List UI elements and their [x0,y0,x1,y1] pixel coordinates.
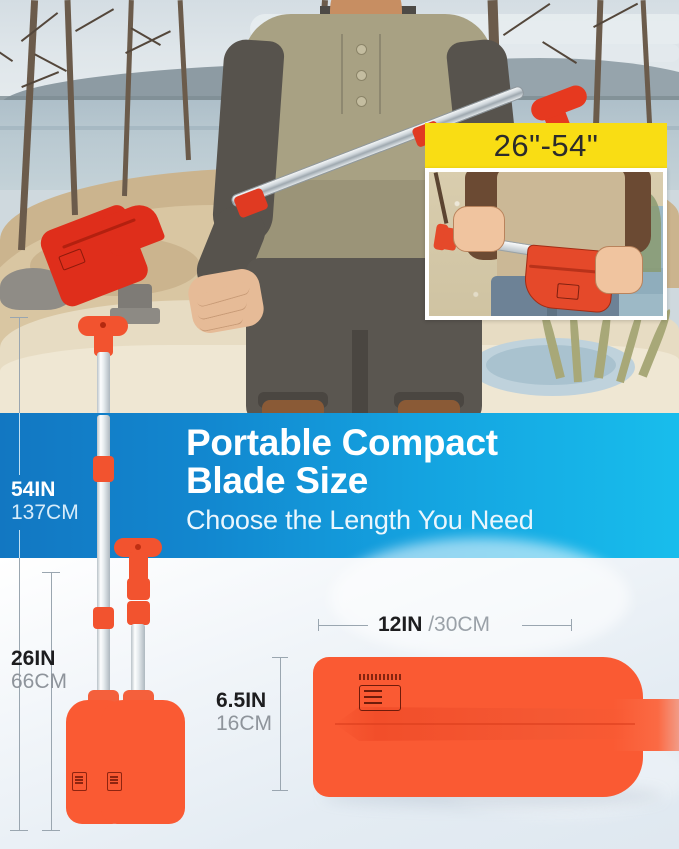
length-range-text: 26"-54" [494,128,599,164]
measure-tick-width-right [571,619,572,631]
shirt-button [356,44,367,55]
tall-paddle-collar [93,456,114,482]
infographic-root: 26"-54" Portable Compac [0,0,679,849]
inset-image [429,172,663,316]
measure-inches-height: 6.5IN [216,690,272,712]
tall-paddle-grip-dot [100,322,106,328]
brand-logo-icon [359,685,401,711]
measure-cm-26: 66CM [11,670,67,693]
headline-title: Portable Compact Blade Size [186,424,656,500]
measure-tick-width-left [318,619,319,631]
measure-inches-54: 54IN [11,479,79,501]
measure-line-54-banner [19,413,20,475]
tall-paddle-shaft-upper [97,352,110,415]
measure-label-blade-height: 6.5IN 16CM [216,690,272,735]
headline-subtitle: Choose the Length You Need [186,505,656,535]
tall-paddle-collar-mid [93,607,114,629]
short-paddle-shaft [131,624,145,700]
measure-tick-54-bottom [10,830,28,831]
placket-seam-left [341,34,343,114]
blade-center-line [335,723,635,725]
panel-sheen [330,538,630,658]
brand-logo-icon [107,772,122,791]
brand-logo-icon [72,772,87,791]
paddle-closeup-inset [425,168,667,320]
measure-tick-26-bottom [42,830,60,831]
inset-hand-right [595,246,643,294]
measure-inches-26: 26IN [11,648,67,670]
measure-line-width-right [522,625,572,626]
measure-line-54-upper [19,317,20,413]
brand-logo-wordmark [359,674,403,680]
short-paddle-collar-lower [127,601,150,625]
measure-cm-width: /30CM [428,613,490,636]
measure-cm-54: 137CM [11,501,79,524]
logo-bar [364,696,382,698]
logo-bar [364,690,382,692]
pants-inseam [352,330,368,415]
measure-label-blade-width: 12IN /30CM [378,613,490,637]
shirt-button [356,96,367,107]
length-range-badge: 26"-54" [425,123,667,168]
measure-tick-height-bottom [272,790,288,791]
short-paddle-collar-upper [127,578,150,600]
measure-inches-width: 12IN [378,613,422,636]
blade-closeup [313,657,679,797]
inset-hand-left [453,206,505,252]
headline-line-1: Portable Compact [186,422,498,463]
brand-logo-icon [556,283,579,300]
measure-line-width-left [318,625,368,626]
measure-cm-height: 16CM [216,712,272,735]
short-paddle-blade [101,700,185,824]
measure-line-54-banner-lower [19,530,20,558]
shirt-button [356,70,367,81]
measure-line-height [280,657,281,790]
measure-label-26: 26IN 66CM [11,648,67,693]
headline-line-2: Blade Size [186,460,368,501]
measure-line-26 [51,572,52,830]
placket-seam-right [379,34,381,114]
measure-label-54: 54IN 137CM [11,479,79,524]
measure-line-54-lower [19,558,20,830]
logo-bar [364,702,382,704]
short-paddle-grip-dot [135,544,141,550]
